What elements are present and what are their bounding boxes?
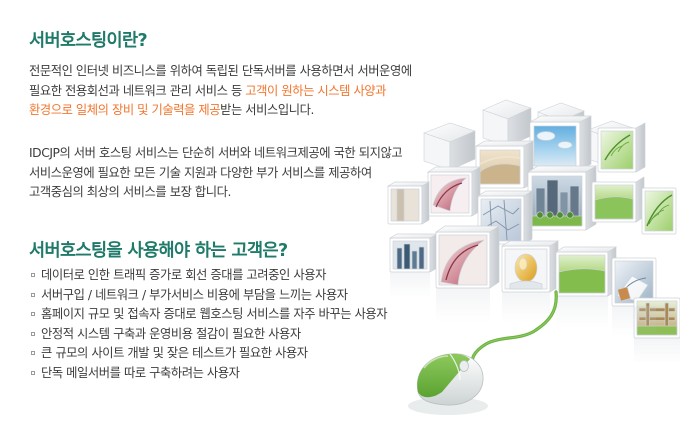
list-item-label: 데이터로 인한 트래픽 증가로 회선 증대를 고려중인 사용자: [41, 266, 326, 286]
intro-paragraph-2: IDCJP의 서버 호스팅 서비스는 단순히 서버와 네트워크제공에 국한 되지…: [29, 144, 402, 202]
square-bullet-icon: [31, 312, 35, 316]
list-item: 안정적 시스템 구축과 운영비용 절감이 필요한 사용자: [31, 325, 387, 345]
square-bullet-icon: [31, 371, 35, 375]
square-bullet-icon: [31, 273, 35, 277]
paragraph-line: 고객중심의 최상의 서비스를 보장 합니다.: [29, 183, 402, 202]
list-item-label: 큰 규모의 사이트 개발 및 잦은 테스트가 필요한 사용자: [41, 344, 308, 364]
paragraph-line: 환경으로 일체의 장비 및 기술력을 제공받는 서비스입니다.: [29, 101, 412, 120]
list-item: 단독 메일서버를 따로 구축하려는 사용자: [31, 364, 387, 384]
square-bullet-icon: [31, 351, 35, 355]
square-bullet-icon: [31, 293, 35, 297]
highlighted-text: 환경으로 일체의 장비 및 기술력을 제공: [29, 103, 220, 117]
square-bullet-icon: [31, 332, 35, 336]
list-item-label: 단독 메일서버를 따로 구축하려는 사용자: [41, 364, 240, 384]
highlighted-text: 고객이 원하는 시스템 사양과: [245, 84, 386, 98]
intro-paragraph-1: 전문적인 인터넷 비즈니스를 위하여 독립된 단독서버를 사용하면서 서버운영에…: [29, 62, 412, 120]
paragraph-line: IDCJP의 서버 호스팅 서비스는 단순히 서버와 네트워크제공에 국한 되지…: [29, 144, 402, 163]
paragraph-line: 필요한 전용회선과 네트워크 관리 서비스 등 고객이 원하는 시스템 사양과: [29, 82, 412, 101]
list-item-label: 안정적 시스템 구축과 운영비용 절감이 필요한 사용자: [41, 325, 301, 345]
list-item-label: 서버구입 / 네트워크 / 부가서비스 비용에 부담을 느끼는 사용자: [41, 286, 348, 306]
list-item: 서버구입 / 네트워크 / 부가서비스 비용에 부담을 느끼는 사용자: [31, 286, 387, 306]
section-title-target-customers: 서버호스팅을 사용해야 하는 고객은?: [29, 241, 288, 262]
page-root: 서버호스팅이란? 전문적인 인터넷 비즈니스를 위하여 독립된 단독서버를 사용…: [0, 0, 680, 425]
paragraph-line: 서비스운영에 필요한 모든 기술 지원과 다양한 부가 서비스를 제공하여: [29, 164, 402, 183]
list-item: 큰 규모의 사이트 개발 및 잦은 테스트가 필요한 사용자: [31, 344, 387, 364]
paragraph-text-plain: 받는 서비스입니다.: [220, 103, 314, 117]
list-item: 홈페이지 규모 및 접속자 증대로 웹호스팅 서비스를 자주 바꾸는 사용자: [31, 305, 387, 325]
customer-bullet-list: 데이터로 인한 트래픽 증가로 회선 증대를 고려중인 사용자 서버구입 / 네…: [31, 266, 387, 384]
photo-cube-collage-illustration: [380, 0, 680, 425]
list-item: 데이터로 인한 트래픽 증가로 회선 증대를 고려중인 사용자: [31, 266, 387, 286]
computer-mouse-graphic: [408, 354, 488, 415]
paragraph-line: 전문적인 인터넷 비즈니스를 위하여 독립된 단독서버를 사용하면서 서버운영에: [29, 62, 412, 81]
list-item-label: 홈페이지 규모 및 접속자 증대로 웹호스팅 서비스를 자주 바꾸는 사용자: [41, 305, 387, 325]
paragraph-text-plain: 필요한 전용회선과 네트워크 관리 서비스 등: [29, 84, 245, 98]
page-title-what-is-server-hosting: 서버호스팅이란?: [29, 31, 147, 52]
